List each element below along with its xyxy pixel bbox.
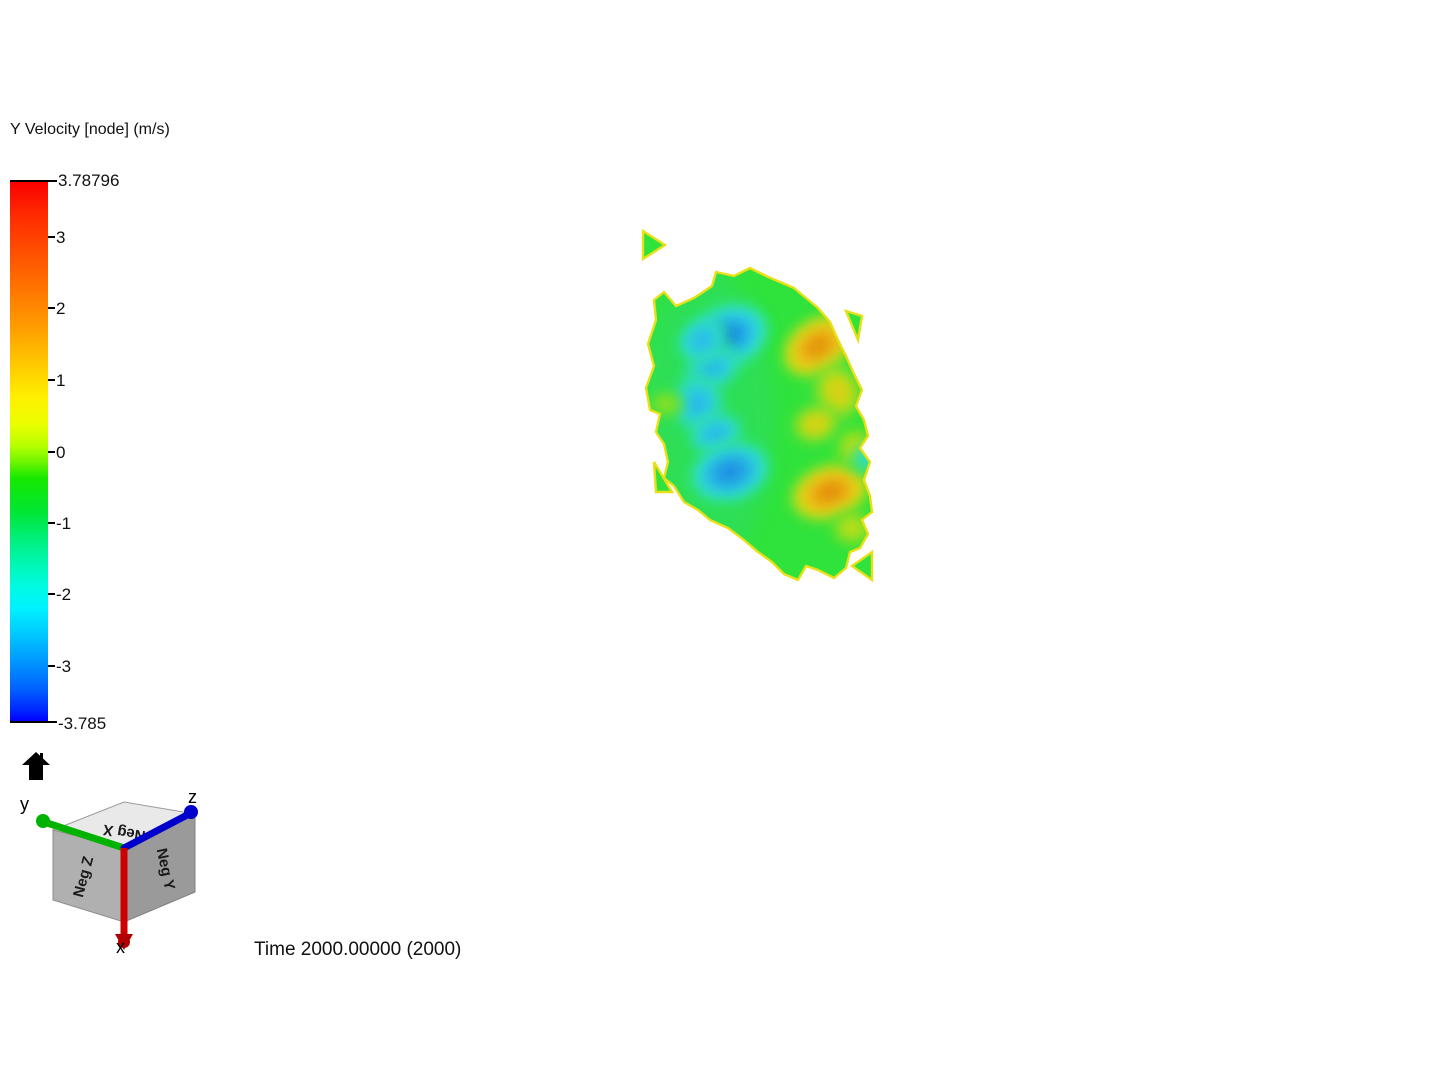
slice-fragment-bottom-right [852, 552, 872, 580]
tick-mark [48, 451, 55, 453]
tick-mark [48, 721, 57, 723]
colorbar-tick-label: -1 [56, 515, 71, 532]
tick-mark [48, 379, 55, 381]
axis-z-handle[interactable] [184, 805, 198, 819]
colorbar-tick-label: 0 [56, 444, 65, 461]
color-legend[interactable]: 3.78796 3 2 1 0 -1 -2 -3 -3.785 [10, 180, 140, 723]
tick-mark [48, 593, 55, 595]
colorbar-gradient[interactable] [10, 180, 48, 723]
colorbar-tick-label: -2 [56, 586, 71, 603]
orientation-axes-widget[interactable]: Neg X Neg Z Neg Y [12, 752, 222, 967]
colorbar-tick-label-max: 3.78796 [58, 172, 119, 189]
axis-label-y: y [20, 795, 29, 813]
colorbar-tick-label: 1 [56, 372, 65, 389]
slice-fragment-right [846, 311, 862, 340]
legend-title: Y Velocity [node] (m/s) [10, 120, 170, 140]
render-view[interactable] [250, 0, 1440, 1080]
tick-mark [48, 180, 57, 182]
axis-label-x: x [116, 938, 125, 956]
time-annotation: Time 2000.00000 (2000) [254, 939, 461, 961]
colorbar-tick-label: 2 [56, 300, 65, 317]
axis-y-handle[interactable] [36, 814, 50, 828]
colorbar-tick-label: -3 [56, 658, 71, 675]
tick-mark [48, 665, 55, 667]
orientation-cube[interactable]: Neg X Neg Z Neg Y [12, 752, 222, 967]
colorbar-tick-label: 3 [56, 229, 65, 246]
colorbar-tick-label-min: -3.785 [58, 715, 106, 732]
slice-fragment-top-left [643, 231, 665, 259]
tick-mark [48, 236, 55, 238]
axis-label-z: z [188, 788, 197, 806]
contour-slice[interactable] [250, 0, 1440, 1080]
tick-mark [48, 522, 55, 524]
tick-mark [48, 307, 55, 309]
